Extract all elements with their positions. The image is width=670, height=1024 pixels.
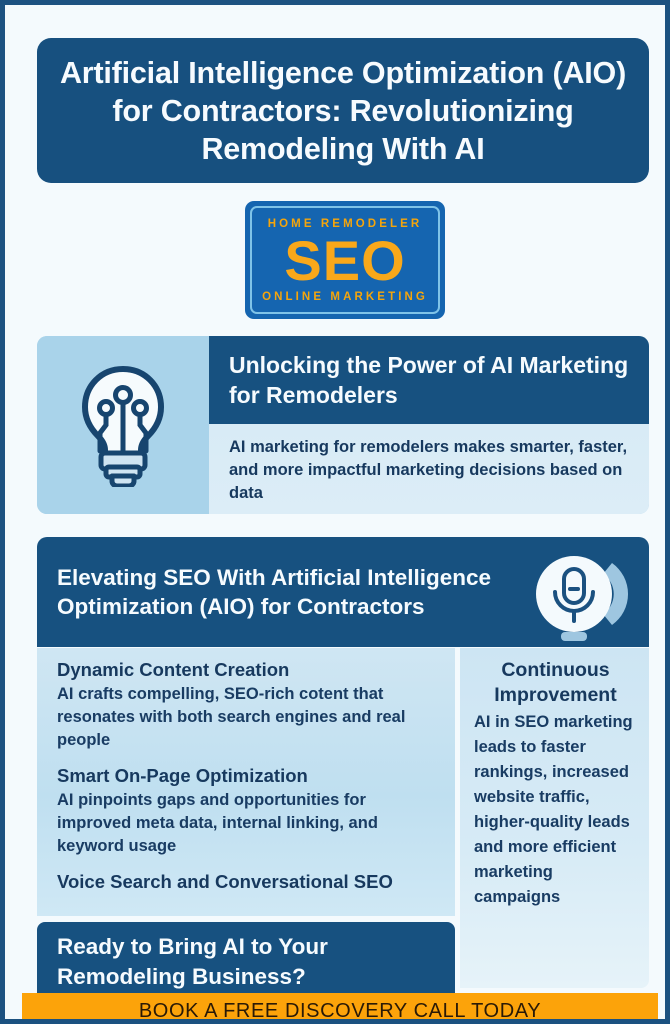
brand-logo-bottom-text: ONLINE MARKETING	[262, 291, 428, 303]
book-call-button-label: BOOK A FREE DISCOVERY CALL TODAY	[139, 1000, 541, 1023]
cta-heading: Ready to Bring AI to Your Remodeling Bus…	[57, 932, 441, 992]
aio-item-title-0: Dynamic Content Creation	[57, 658, 441, 682]
infographic-page: Artificial Intelligence Optimization (AI…	[0, 0, 670, 1024]
aio-heading: Elevating SEO With Artificial Intelligen…	[57, 563, 519, 621]
aio-right-column: Continuous Improvement AI in SEO marketi…	[460, 648, 649, 988]
aio-item-title-2: Voice Search and Conversational SEO	[57, 870, 441, 894]
ai-marketing-content: Unlocking the Power of AI Marketing for …	[209, 336, 649, 514]
continuous-improvement-text: AI in SEO marketing leads to faster rank…	[474, 710, 637, 910]
aio-item-title-1: Smart On-Page Optimization	[57, 764, 441, 788]
ai-marketing-body: AI marketing for remodelers makes smarte…	[209, 424, 649, 514]
aio-left-column: Dynamic Content Creation AI crafts compe…	[37, 648, 455, 916]
title-banner: Artificial Intelligence Optimization (AI…	[37, 38, 649, 183]
brand-logo-frame: HOME REMODELER SEO ONLINE MARKETING	[250, 206, 440, 314]
brand-logo-main-text: SEO	[284, 232, 405, 290]
lightbulb-circuit-icon	[75, 363, 171, 487]
brand-logo: HOME REMODELER SEO ONLINE MARKETING	[245, 201, 445, 319]
continuous-improvement-title: Continuous Improvement	[474, 658, 637, 708]
infographic-canvas: Artificial Intelligence Optimization (AI…	[10, 10, 670, 1024]
cta-panel: Ready to Bring AI to Your Remodeling Bus…	[37, 922, 455, 996]
section-aio-header: Elevating SEO With Artificial Intelligen…	[37, 537, 649, 647]
lightbulb-icon-panel	[37, 336, 209, 514]
ai-marketing-heading: Unlocking the Power of AI Marketing for …	[229, 350, 633, 410]
ai-marketing-header: Unlocking the Power of AI Marketing for …	[209, 336, 649, 424]
brand-logo-top-text: HOME REMODELER	[268, 218, 423, 230]
aio-item-text-0: AI crafts compelling, SEO-rich cotent th…	[57, 683, 441, 752]
section-ai-marketing: Unlocking the Power of AI Marketing for …	[37, 336, 649, 514]
aio-item-text-1: AI pinpoints gaps and opportunities for …	[57, 789, 441, 858]
microphone-icon-panel	[519, 537, 639, 647]
page-title: Artificial Intelligence Optimization (AI…	[55, 54, 631, 168]
book-call-button[interactable]: BOOK A FREE DISCOVERY CALL TODAY	[22, 993, 658, 1024]
